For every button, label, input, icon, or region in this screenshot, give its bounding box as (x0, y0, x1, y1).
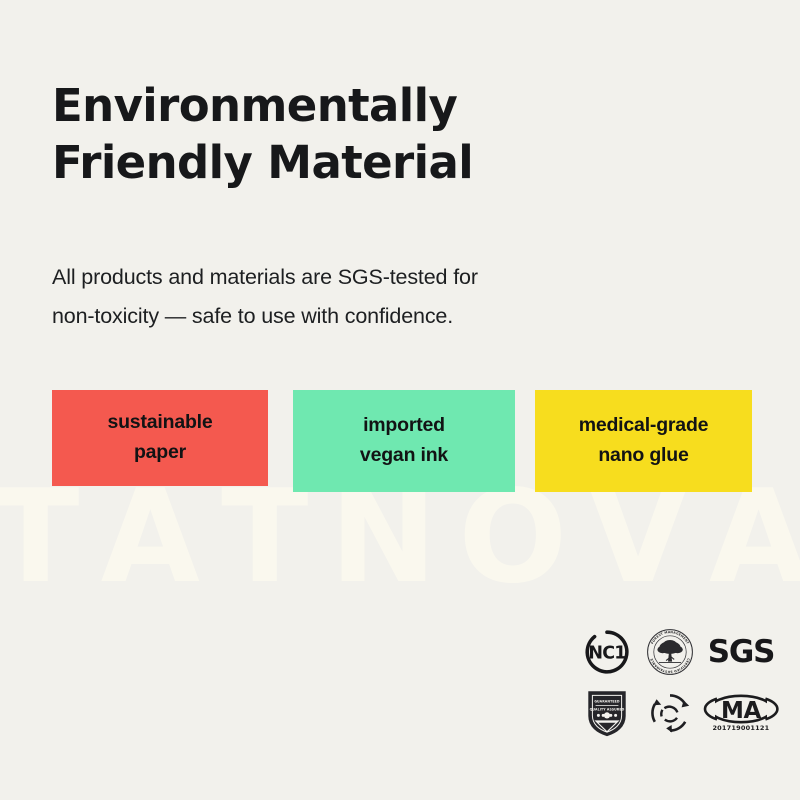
page-subtitle-line-2: non-toxicity — safe to use with confiden… (52, 297, 652, 336)
certification-badge-recycle (638, 682, 702, 744)
nc1-circle-icon: NC1 (584, 629, 630, 675)
certification-badge-tree-seal: FOREST MANAGEMENT CERTIFIED SUSTAINABLE (638, 622, 702, 682)
watermark-letter: V (589, 474, 688, 602)
sgs-wordmark-icon: SGS (708, 637, 775, 668)
page-subtitle-line-1: All products and materials are SGS-teste… (52, 258, 652, 297)
material-chip-medical-grade-nano-glue: medical-grade nano glue (535, 390, 752, 492)
material-chip-label-line-1: medical-grade (579, 411, 709, 441)
page-title: Environmentally Friendly Material (52, 78, 692, 191)
cma-certificate-code: 201719001121 (713, 725, 770, 731)
brand-watermark: T A T N O V A (0, 478, 800, 598)
watermark-letter: A (709, 474, 800, 602)
watermark-letter: T (0, 474, 79, 602)
cma-wordmark-icon: MA (708, 694, 774, 724)
svg-text:MA: MA (721, 698, 761, 724)
watermark-letter: N (330, 474, 437, 602)
svg-text:NC1: NC1 (588, 643, 625, 663)
page-title-line-2: Friendly Material (52, 135, 692, 192)
watermark-letter: T (221, 474, 308, 602)
svg-text:GUARANTEED: GUARANTEED (594, 700, 620, 704)
svg-text:QUALITY ASSURED: QUALITY ASSURED (590, 708, 625, 712)
material-chip-label-line-2: paper (134, 438, 186, 468)
page-subtitle: All products and materials are SGS-teste… (52, 258, 652, 336)
recycle-arrows-icon (647, 690, 693, 736)
certification-badge-cma: MA 201719001121 (702, 682, 780, 744)
certification-badge-grid: NC1 FOREST MANAGEMENT CERTIFIED SUSTAINA… (576, 622, 780, 744)
watermark-letter: O (458, 474, 567, 602)
certification-badge-shield: GUARANTEED QUALITY ASSURED (576, 682, 638, 744)
material-chip-label-line-2: vegan ink (360, 441, 448, 471)
certification-badge-nc1: NC1 (576, 622, 638, 682)
material-chip-label-line-2: nano glue (598, 441, 688, 471)
material-chip-imported-vegan-ink: imported vegan ink (293, 390, 515, 492)
material-chip-label-line-1: imported (363, 411, 445, 441)
material-chip-row: sustainable paper imported vegan ink med… (52, 390, 752, 492)
poster-canvas: T A T N O V A Environmentally Friendly M… (0, 0, 800, 800)
page-title-line-1: Environmentally (52, 78, 692, 135)
shield-chevron-icon: GUARANTEED QUALITY ASSURED (585, 688, 629, 738)
certification-badge-sgs: SGS (702, 622, 780, 682)
watermark-letter: A (101, 474, 200, 602)
tree-seal-icon: FOREST MANAGEMENT CERTIFIED SUSTAINABLE (645, 627, 695, 677)
material-chip-sustainable-paper: sustainable paper (52, 390, 268, 486)
material-chip-label-line-1: sustainable (107, 408, 212, 438)
